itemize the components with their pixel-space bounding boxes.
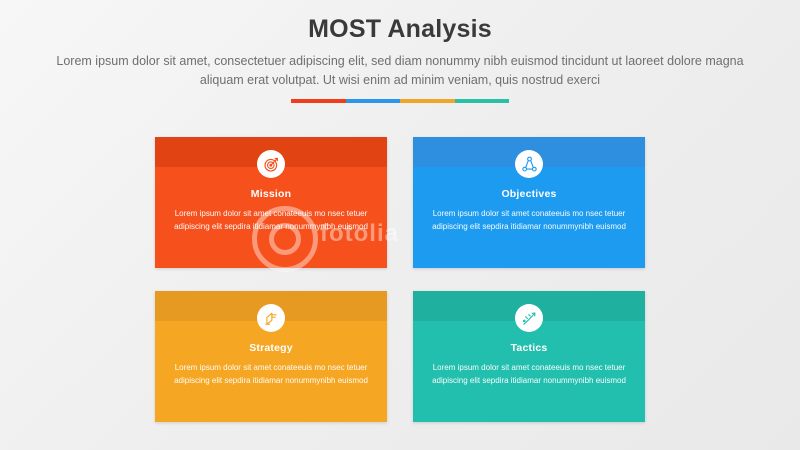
accent-segment-3 [400, 99, 455, 103]
card-title: Mission [155, 188, 387, 200]
accent-segment-4 [455, 99, 510, 103]
strategy-icon [257, 304, 285, 332]
card-tactics[interactable]: Tactics Lorem ipsum dolor sit amet conat… [413, 291, 645, 422]
objectives-icon [515, 150, 543, 178]
card-title: Tactics [413, 342, 645, 354]
page-title: MOST Analysis [0, 16, 800, 44]
cards-grid: Mission Lorem ipsum dolor sit amet conat… [155, 137, 645, 422]
infographic-page: MOST Analysis Lorem ipsum dolor sit amet… [0, 0, 800, 450]
card-body: Lorem ipsum dolor sit amet conateeuis mo… [431, 207, 627, 233]
accent-bar [291, 99, 509, 103]
card-body: Lorem ipsum dolor sit amet conateeuis mo… [431, 361, 627, 387]
card-mission[interactable]: Mission Lorem ipsum dolor sit amet conat… [155, 137, 387, 268]
page-subtitle: Lorem ipsum dolor sit amet, consectetuer… [50, 52, 750, 91]
card-title: Strategy [155, 342, 387, 354]
tactics-icon [515, 304, 543, 332]
header: MOST Analysis Lorem ipsum dolor sit amet… [0, 16, 800, 103]
card-objectives[interactable]: Objectives Lorem ipsum dolor sit amet co… [413, 137, 645, 268]
target-icon [257, 150, 285, 178]
card-body: Lorem ipsum dolor sit amet conateeuis mo… [173, 207, 369, 233]
accent-segment-2 [346, 99, 401, 103]
card-body: Lorem ipsum dolor sit amet conateeuis mo… [173, 361, 369, 387]
card-title: Objectives [413, 188, 645, 200]
card-strategy[interactable]: Strategy Lorem ipsum dolor sit amet cona… [155, 291, 387, 422]
accent-segment-1 [291, 99, 346, 103]
